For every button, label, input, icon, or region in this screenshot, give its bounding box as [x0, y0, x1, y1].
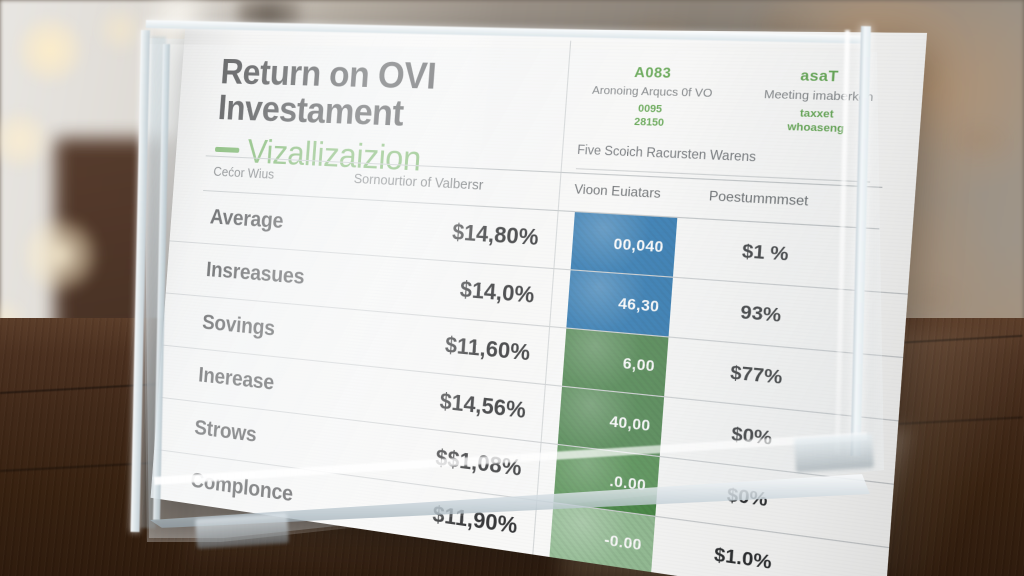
acrylic-foot-left: [195, 513, 289, 549]
chip-texture: [549, 503, 655, 575]
row-chip: -0.00: [549, 503, 655, 575]
acrylic-sign-holder: Return on OVI Investament Vizallizaizion…: [0, 0, 1024, 576]
photo-scene: Return on OVI Investament Vizallizaizion…: [0, 0, 1024, 576]
acrylic-front-panel: [139, 18, 884, 542]
acrylic-foot-right: [794, 434, 874, 473]
row-percent: $1.0%: [677, 538, 810, 576]
